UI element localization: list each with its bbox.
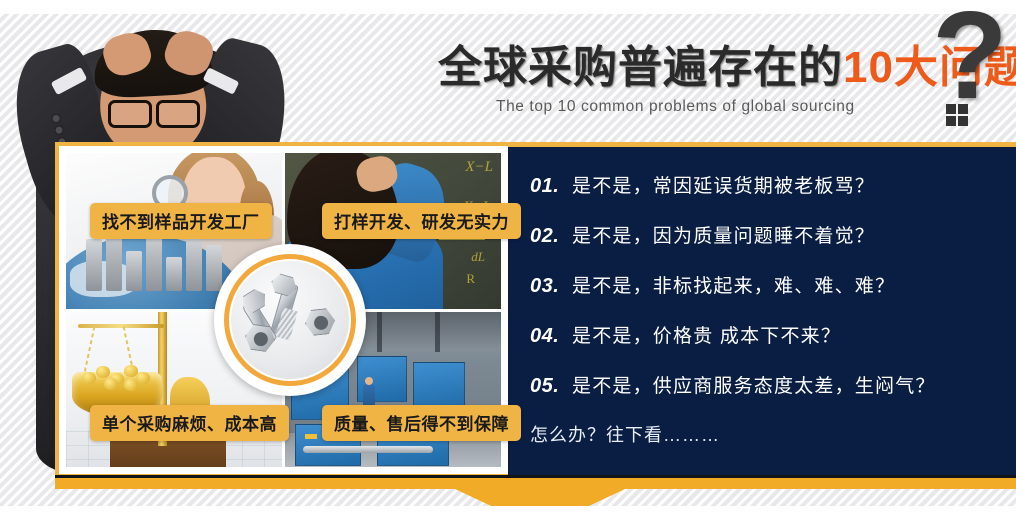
item-number: 04.	[530, 325, 572, 348]
item-text: 是不是，因为质量问题睡不着觉？	[572, 221, 875, 248]
nut-icon	[304, 308, 337, 337]
factory-beam	[435, 312, 440, 352]
list-item: 02. 是不是，因为质量问题睡不着觉？	[508, 221, 1016, 248]
list-item: 04. 是不是，价格贵 成本下不来？	[508, 321, 1016, 348]
list-item: 05. 是不是，供应商服务态度太差，生闷气？	[508, 371, 1016, 398]
item-text: 是不是，供应商服务态度太差，生闷气？	[572, 371, 936, 398]
item-number: 01.	[530, 175, 572, 198]
banner-header: 全球采购普遍存在的10大问题 The top 10 common problem…	[0, 0, 1016, 145]
eyeglasses-icon	[108, 100, 200, 122]
list-item: 01. 是不是，常因延误货期被老板骂？	[508, 171, 1016, 198]
chalk-formula: R	[466, 271, 475, 287]
question-mark-dot	[946, 104, 968, 126]
collage-label-1: 找不到样品开发工厂	[90, 203, 272, 239]
bolts-and-nuts-badge	[214, 244, 366, 396]
factory-beam	[377, 312, 382, 352]
metal-pipe	[303, 446, 433, 453]
machine-indicator	[305, 434, 317, 439]
list-item: 03. 是不是，非标找起来，难、难、难？	[508, 271, 1016, 298]
chalk-formula: X−L	[465, 159, 493, 176]
bolt-head-icon	[238, 286, 271, 317]
collage-label-2: 打样开发、研发无实力	[322, 203, 521, 239]
gold-nuggets	[80, 364, 156, 390]
item-text: 是不是，常因延误货期被老板骂？	[572, 171, 875, 198]
item-number: 02.	[530, 225, 572, 248]
item-text: 是不是，非标找起来，难、难、难？	[572, 271, 895, 298]
badge-orange-ring	[224, 254, 356, 386]
question-mark-glyph: ?	[932, 0, 1008, 118]
scale-arm	[78, 324, 164, 328]
bottom-orange-bar	[55, 478, 1016, 489]
title-block: 全球采购普遍存在的10大问题 The top 10 common problem…	[438, 44, 1008, 116]
badge-photo	[231, 261, 349, 379]
question-mark-icon: ?	[932, 12, 1008, 128]
panel-footer-text: 怎么办？往下看………	[508, 421, 1016, 447]
collage-label-3: 单个采购麻烦、成本高	[90, 405, 289, 441]
chalk-formula: dL	[471, 249, 485, 265]
item-text: 是不是，价格贵 成本下不来？	[572, 321, 841, 348]
factory-machine	[413, 362, 465, 412]
sourcing-problems-banner: 全球采购普遍存在的10大问题 The top 10 common problem…	[0, 0, 1016, 531]
title-dark-part: 全球采购普遍存在的	[438, 43, 843, 92]
item-number: 03.	[530, 275, 572, 298]
problems-list: 01. 是不是，常因延误货期被老板骂？ 02. 是不是，因为质量问题睡不着觉？ …	[508, 171, 1016, 398]
bottom-white-area	[0, 506, 1016, 531]
item-number: 05.	[530, 375, 572, 398]
page-title: 全球采购普遍存在的10大问题	[438, 44, 1008, 92]
collage-label-4: 质量、售后得不到保障	[322, 405, 521, 441]
problems-panel: 01. 是不是，常因延误货期被老板骂？ 02. 是不是，因为质量问题睡不着觉？ …	[508, 142, 1016, 478]
chalk-fraction-line	[439, 239, 485, 240]
